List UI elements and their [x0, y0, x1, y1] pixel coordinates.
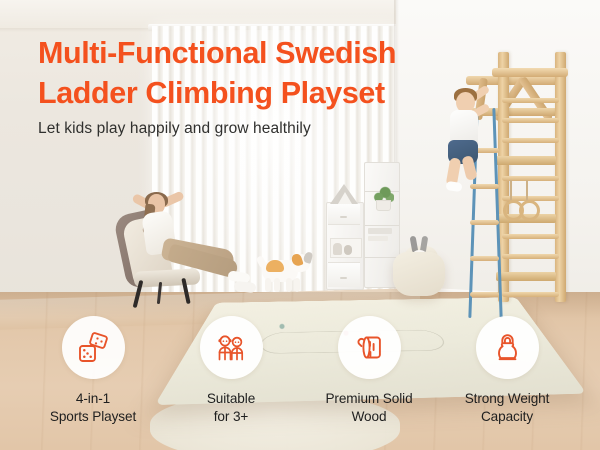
title-line-1: Multi-Functional Swedish — [38, 34, 468, 74]
play-tent-opening — [338, 192, 352, 204]
feature-label: 4-in-1 Sports Playset — [50, 390, 136, 425]
feature-icon-circle — [200, 316, 263, 379]
feature-icon-circle — [476, 316, 539, 379]
ladder-rung — [502, 118, 559, 123]
shelf-drawer — [328, 262, 360, 287]
gym-ring-strap — [510, 180, 512, 202]
feature-label-line-2: Sports Playset — [50, 409, 136, 424]
ladder-top-cap — [492, 68, 568, 77]
drawer-knob — [340, 216, 347, 218]
plant-pot — [376, 200, 391, 211]
boy-shoe — [445, 181, 462, 192]
feature-label-line-2: for 3+ — [214, 409, 249, 424]
gymnastic-ring — [519, 200, 540, 221]
wood-log-icon — [353, 331, 386, 364]
feature-label-line-1: 4-in-1 — [76, 391, 110, 406]
product-banner: Multi-Functional Swedish Ladder Climbing… — [0, 0, 600, 450]
shelf-books — [368, 228, 392, 234]
feature-label: Premium Solid Wood — [325, 390, 412, 425]
feature-label-line-1: Premium Solid — [325, 391, 412, 406]
shelf-divider — [365, 257, 399, 258]
woman-slipper — [234, 281, 257, 293]
kettlebell-icon — [491, 331, 524, 364]
ladder-rung — [502, 98, 559, 103]
feature-label-line-1: Strong Weight — [465, 391, 550, 406]
feature-row: 4-in-1 Sports Playset — [0, 316, 600, 450]
dog-plush-toy — [258, 248, 314, 296]
rope-ladder-step — [470, 292, 499, 297]
feature-icon-circle — [62, 316, 125, 379]
rope-ladder-step — [470, 256, 499, 261]
feature-label: Suitable for 3+ — [207, 390, 255, 425]
dog-leg — [286, 278, 292, 292]
cubby-toy — [344, 245, 352, 255]
drawer-knob — [340, 277, 347, 279]
dice-icon — [76, 331, 110, 365]
feature-item-sports-playset: 4-in-1 Sports Playset — [28, 316, 158, 450]
two-kids-icon — [214, 331, 248, 365]
dog-ear — [303, 251, 314, 264]
ladder-wide-plate — [496, 156, 556, 165]
beanbag-chair — [393, 252, 445, 296]
feature-label: Strong Weight Capacity — [465, 390, 550, 425]
ladder-rung — [502, 292, 559, 297]
feature-label-line-2: Capacity — [481, 409, 533, 424]
dog-leg — [265, 278, 271, 292]
shelf-drawer — [328, 204, 360, 225]
ladder-wide-plate — [496, 272, 556, 281]
ladder-rung — [502, 138, 559, 143]
ladder-rung — [502, 234, 559, 239]
cubby-toy — [333, 243, 342, 255]
title-line-2: Ladder Climbing Playset — [38, 74, 468, 114]
feature-item-suitable-age: Suitable for 3+ — [166, 316, 296, 450]
page-subtitle: Let kids play happily and grow healthily — [38, 120, 311, 138]
feature-item-solid-wood: Premium Solid Wood — [304, 316, 434, 450]
shelf-books — [368, 236, 388, 241]
page-title: Multi-Functional Swedish Ladder Climbing… — [38, 34, 468, 113]
dog-leg — [274, 278, 280, 292]
shelf-divider — [365, 225, 399, 226]
woman-relaxing — [128, 192, 258, 310]
dog-back-patch — [266, 260, 284, 272]
dog-leg — [294, 278, 300, 292]
gym-ring-strap — [526, 180, 528, 202]
feature-label-line-1: Suitable — [207, 391, 255, 406]
ladder-rung — [502, 254, 559, 259]
feature-item-weight-capacity: Strong Weight Capacity — [442, 316, 572, 450]
feature-icon-circle — [338, 316, 401, 379]
feature-label-line-2: Wood — [352, 409, 387, 424]
rope-ladder-step — [470, 220, 499, 225]
